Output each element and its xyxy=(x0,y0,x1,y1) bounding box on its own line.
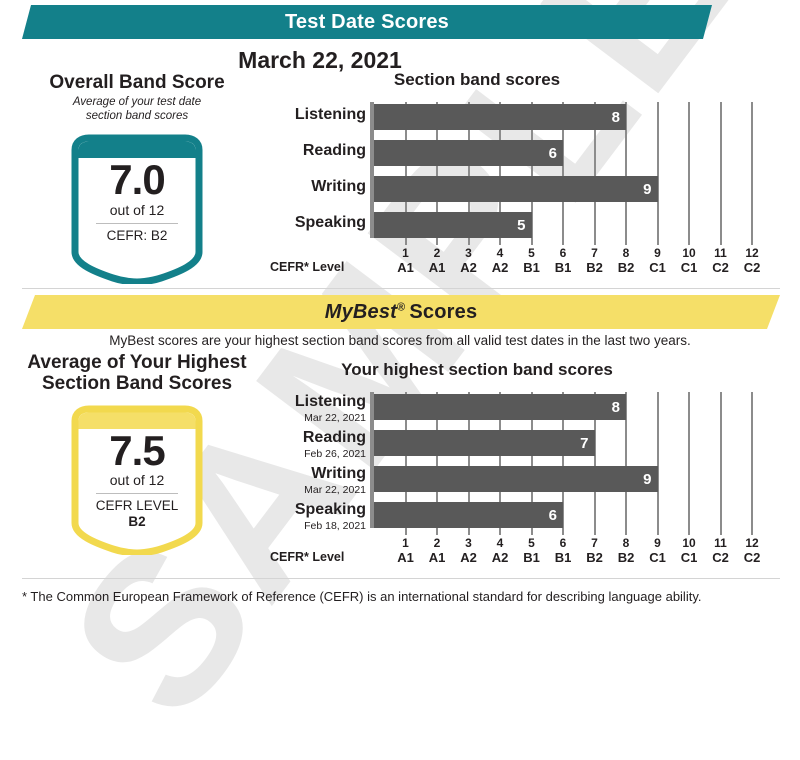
x-tick-cefr-1: A1 xyxy=(394,550,418,565)
x-tick-5 xyxy=(531,238,533,245)
category-label-reading: ReadingFeb 26, 2021 xyxy=(303,430,366,460)
bar-row: 6 xyxy=(374,140,563,166)
section-divider-top xyxy=(22,288,780,289)
mybest-chart-title: Your highest section band scores xyxy=(262,360,692,380)
bar-row: 5 xyxy=(374,212,532,238)
category-label-speaking: Speaking xyxy=(295,215,366,232)
x-tick-cefr-12: C2 xyxy=(740,260,764,275)
x-tick-number-1: 1 xyxy=(394,536,418,550)
x-tick-number-1: 1 xyxy=(394,246,418,260)
mybest-average-title-line2: Section Band Scores xyxy=(12,373,262,394)
x-tick-6 xyxy=(562,238,564,245)
x-tick-10 xyxy=(688,528,690,535)
bar-row: 7 xyxy=(374,430,595,456)
category-name: Speaking xyxy=(295,215,366,232)
x-tick-number-8: 8 xyxy=(614,246,638,260)
category-label-listening: ListeningMar 22, 2021 xyxy=(295,394,366,424)
mybest-scores-banner: MyBest®Scores xyxy=(22,295,780,329)
x-tick-number-3: 3 xyxy=(457,246,481,260)
category-name: Writing xyxy=(311,179,366,196)
test-date-scores-banner-title: Test Date Scores xyxy=(285,11,449,34)
bar-row: 8 xyxy=(374,394,626,420)
x-tick-12 xyxy=(751,528,753,535)
x-tick-3 xyxy=(468,238,470,245)
x-tick-10 xyxy=(688,238,690,245)
overall-badge-content: 7.0 out of 12 CEFR: B2 xyxy=(69,132,205,284)
overall-band-score-cefr: CEFR: B2 xyxy=(107,228,168,244)
x-tick-5 xyxy=(531,528,533,535)
chart1-x-axis: CEFR* Level 1A12A13A24A25B16B17B28B29C11… xyxy=(262,238,792,284)
category-date: Mar 22, 2021 xyxy=(304,484,366,496)
chart2-bars: 8796 xyxy=(374,392,792,528)
section-divider-bottom xyxy=(22,578,780,579)
x-tick-cefr-3: A2 xyxy=(457,550,481,565)
x-tick-number-9: 9 xyxy=(646,536,670,550)
x-tick-number-4: 4 xyxy=(488,246,512,260)
x-tick-cefr-7: B2 xyxy=(583,260,607,275)
x-tick-number-5: 5 xyxy=(520,536,544,550)
x-tick-number-2: 2 xyxy=(425,246,449,260)
bar-reading: 6 xyxy=(374,140,563,166)
overall-band-score-subtitle-line1: Average of your test date xyxy=(12,96,262,110)
x-tick-number-9: 9 xyxy=(646,246,670,260)
mybest-average-score-value: 7.5 xyxy=(109,431,164,471)
x-tick-cefr-8: B2 xyxy=(614,260,638,275)
x-tick-number-6: 6 xyxy=(551,536,575,550)
registered-mark-icon: ® xyxy=(397,301,405,313)
x-tick-cefr-11: C2 xyxy=(709,260,733,275)
chart2-x-axis: CEFR* Level 1A12A13A24A25B16B17B28B29C11… xyxy=(262,528,792,574)
bar-row: 9 xyxy=(374,466,658,492)
overall-band-score-value: 7.0 xyxy=(109,160,164,200)
bar-writing: 9 xyxy=(374,176,658,202)
overall-band-score-subtitle: Average of your test date section band s… xyxy=(12,96,262,124)
category-label-writing: WritingMar 22, 2021 xyxy=(304,466,366,496)
bar-speaking: 5 xyxy=(374,212,532,238)
x-tick-number-5: 5 xyxy=(520,246,544,260)
x-tick-cefr-10: C1 xyxy=(677,260,701,275)
x-tick-cefr-3: A2 xyxy=(457,260,481,275)
chart1-bars: 8695 xyxy=(374,102,792,238)
x-tick-number-2: 2 xyxy=(425,536,449,550)
overall-band-score-badge: 7.0 out of 12 CEFR: B2 xyxy=(69,132,205,284)
mybest-banner-title-rest: Scores xyxy=(409,301,477,324)
mybest-banner-title-italic: MyBest® xyxy=(325,301,406,324)
x-tick-number-7: 7 xyxy=(583,246,607,260)
x-tick-11 xyxy=(720,238,722,245)
section-band-scores-chart-title: Section band scores xyxy=(262,70,692,90)
x-tick-cefr-12: C2 xyxy=(740,550,764,565)
bar-row: 6 xyxy=(374,502,563,528)
category-name: Listening xyxy=(295,107,366,124)
x-tick-cefr-8: B2 xyxy=(614,550,638,565)
x-tick-3 xyxy=(468,528,470,535)
x-tick-7 xyxy=(594,238,596,245)
chart1-plot-area: 8695 ListeningReadingWritingSpeaking xyxy=(262,102,792,238)
x-tick-1 xyxy=(405,238,407,245)
x-tick-cefr-4: A2 xyxy=(488,550,512,565)
x-tick-number-7: 7 xyxy=(583,536,607,550)
mybest-cefr-label: CEFR LEVEL xyxy=(96,498,179,514)
x-tick-number-4: 4 xyxy=(488,536,512,550)
x-tick-cefr-9: C1 xyxy=(646,260,670,275)
x-tick-cefr-2: A1 xyxy=(425,550,449,565)
category-name: Writing xyxy=(304,466,366,483)
mybest-average-block: Average of Your Highest Section Band Sco… xyxy=(12,352,262,555)
category-label-listening: Listening xyxy=(295,107,366,124)
overall-band-score-subtitle-line2: section band scores xyxy=(12,110,262,124)
x-tick-2 xyxy=(436,238,438,245)
mybest-cefr-value: B2 xyxy=(128,514,145,529)
x-tick-4 xyxy=(499,238,501,245)
chart2-cefr-axis-label: CEFR* Level xyxy=(270,550,344,564)
badge-divider xyxy=(96,223,178,224)
test-date-scores-banner: Test Date Scores xyxy=(22,5,712,39)
category-name: Reading xyxy=(303,143,366,160)
x-tick-1 xyxy=(405,528,407,535)
chart1-cefr-axis-label: CEFR* Level xyxy=(270,260,344,274)
x-tick-number-12: 12 xyxy=(740,536,764,550)
x-tick-6 xyxy=(562,528,564,535)
mybest-average-cefr: CEFR LEVEL B2 xyxy=(96,498,179,529)
x-tick-12 xyxy=(751,238,753,245)
x-tick-8 xyxy=(625,238,627,245)
mybest-section-band-scores-chart: Your highest section band scores 8796 Li… xyxy=(262,360,792,568)
x-tick-number-3: 3 xyxy=(457,536,481,550)
x-tick-cefr-1: A1 xyxy=(394,260,418,275)
x-tick-cefr-10: C1 xyxy=(677,550,701,565)
score-report-page: SAMPLE Test Date Scores March 22, 2021 O… xyxy=(0,0,800,626)
mybest-average-title: Average of Your Highest Section Band Sco… xyxy=(12,352,262,395)
x-tick-number-10: 10 xyxy=(677,536,701,550)
mybest-badge-divider xyxy=(96,493,178,494)
category-label-writing: Writing xyxy=(311,179,366,196)
chart2-plot-area: 8796 ListeningMar 22, 2021ReadingFeb 26,… xyxy=(262,392,792,528)
x-tick-cefr-7: B2 xyxy=(583,550,607,565)
x-tick-cefr-5: B1 xyxy=(520,260,544,275)
overall-band-score-title: Overall Band Score xyxy=(12,72,262,93)
mybest-badge-content: 7.5 out of 12 CEFR LEVEL B2 xyxy=(69,403,205,555)
x-tick-number-11: 11 xyxy=(709,536,733,550)
x-tick-4 xyxy=(499,528,501,535)
category-name: Listening xyxy=(295,394,366,411)
x-tick-cefr-4: A2 xyxy=(488,260,512,275)
x-tick-9 xyxy=(657,528,659,535)
x-tick-9 xyxy=(657,238,659,245)
category-date: Mar 22, 2021 xyxy=(295,412,366,424)
category-name: Speaking xyxy=(295,502,366,519)
bar-row: 8 xyxy=(374,104,626,130)
bar-listening: 8 xyxy=(374,394,626,420)
x-tick-cefr-2: A1 xyxy=(425,260,449,275)
overall-band-score-out-of: out of 12 xyxy=(110,202,165,218)
x-tick-cefr-6: B1 xyxy=(551,550,575,565)
mybest-average-out-of: out of 12 xyxy=(110,472,165,488)
x-tick-number-12: 12 xyxy=(740,246,764,260)
mybest-average-badge: 7.5 out of 12 CEFR LEVEL B2 xyxy=(69,403,205,555)
x-tick-number-8: 8 xyxy=(614,536,638,550)
x-tick-number-10: 10 xyxy=(677,246,701,260)
x-tick-cefr-6: B1 xyxy=(551,260,575,275)
bar-writing: 9 xyxy=(374,466,658,492)
category-name: Reading xyxy=(303,430,366,447)
mybest-average-title-line1: Average of Your Highest xyxy=(12,352,262,373)
x-tick-8 xyxy=(625,528,627,535)
category-date: Feb 26, 2021 xyxy=(303,448,366,460)
x-tick-cefr-9: C1 xyxy=(646,550,670,565)
x-tick-cefr-11: C2 xyxy=(709,550,733,565)
cefr-footnote: * The Common European Framework of Refer… xyxy=(22,588,722,606)
mybest-intro-text: MyBest scores are your highest section b… xyxy=(0,333,800,348)
section-band-scores-chart: Section band scores 8695 ListeningReadin… xyxy=(262,70,792,282)
overall-band-score-block: Overall Band Score Average of your test … xyxy=(12,72,262,284)
bar-speaking: 6 xyxy=(374,502,563,528)
x-tick-11 xyxy=(720,528,722,535)
x-tick-number-11: 11 xyxy=(709,246,733,260)
category-label-reading: Reading xyxy=(303,143,366,160)
x-tick-cefr-5: B1 xyxy=(520,550,544,565)
x-tick-2 xyxy=(436,528,438,535)
x-tick-number-6: 6 xyxy=(551,246,575,260)
bar-listening: 8 xyxy=(374,104,626,130)
bar-row: 9 xyxy=(374,176,658,202)
x-tick-7 xyxy=(594,528,596,535)
bar-reading: 7 xyxy=(374,430,595,456)
